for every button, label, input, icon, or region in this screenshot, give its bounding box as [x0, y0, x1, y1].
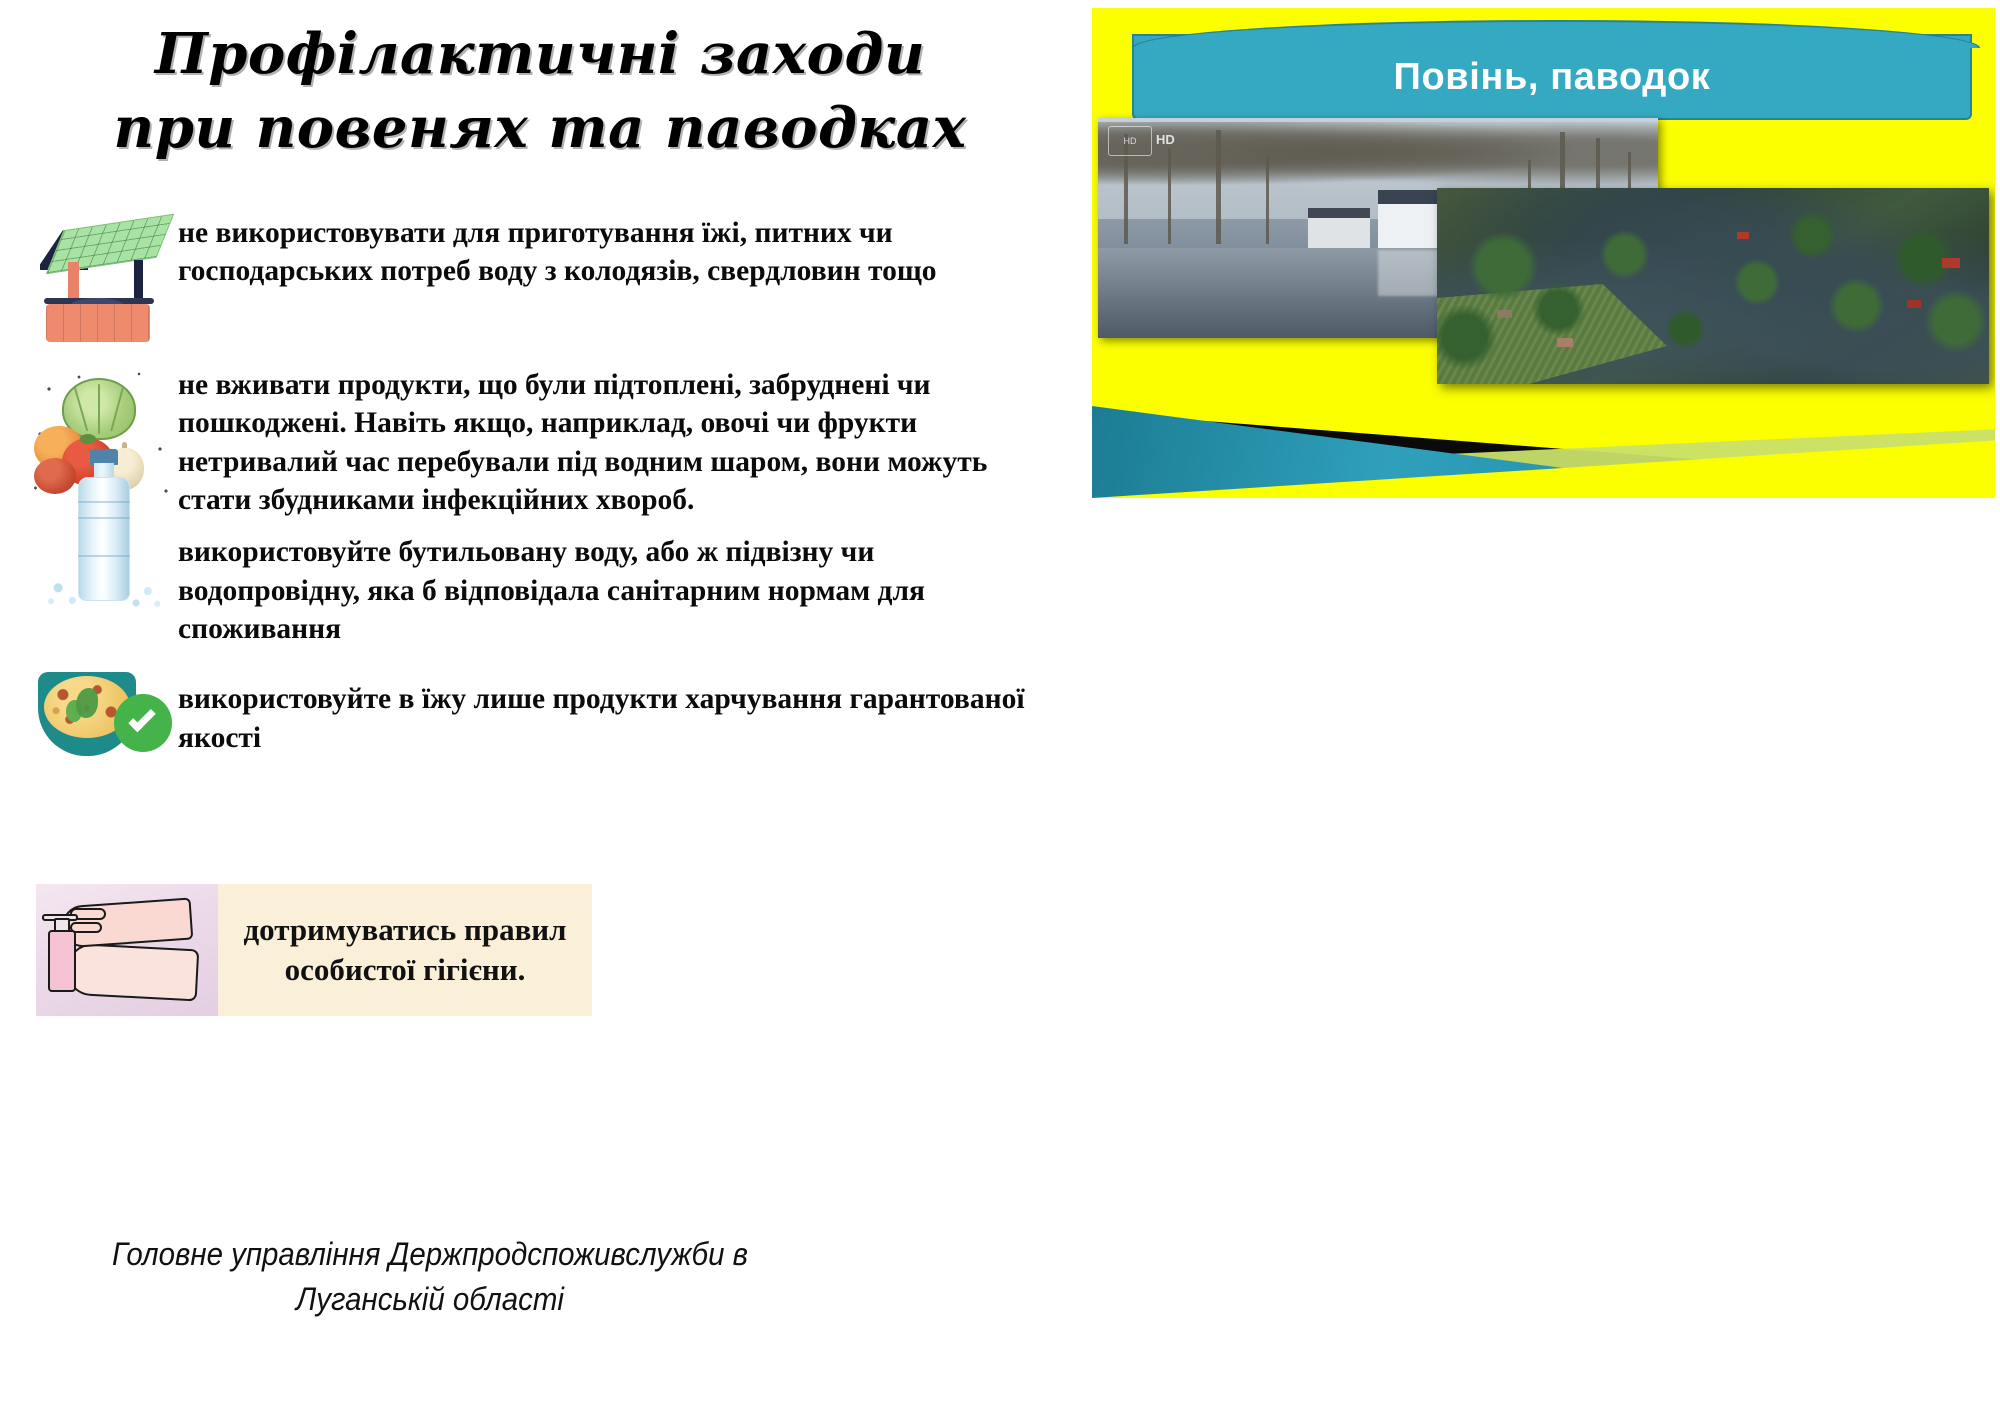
- list-item: використовуйте в їжу лише продукти харчу…: [28, 664, 1058, 769]
- right-column: Повінь, паводок HD HD: [1075, 0, 2000, 1414]
- infographic-page: Профілактичні заходи при повенях та паво…: [0, 0, 2000, 1414]
- hygiene-line-1: дотримуватись правил: [243, 912, 566, 947]
- slide-banner: Повінь, паводок: [1132, 34, 1972, 120]
- slide-banner-title: Повінь, паводок: [1394, 56, 1711, 99]
- well-icon: [28, 210, 178, 338]
- list-item: використовуйте бутильовану воду, або ж п…: [28, 443, 1058, 648]
- list-item-text: не використовувати для приготування їжі,…: [178, 210, 1058, 291]
- hygiene-banner: дотримуватись правил особистої гігієни.: [36, 884, 592, 1016]
- footer-line-1: Головне управління Держпродспоживслужби …: [108, 1232, 752, 1277]
- hand-washing-soap-icon: [36, 884, 218, 1016]
- list-item-text: використовуйте в їжу лише продукти харчу…: [178, 664, 1058, 757]
- prevention-items-list: не використовувати для приготування їжі,…: [28, 210, 1058, 769]
- page-title: Профілактичні заходи при повенях та паво…: [60, 18, 1020, 166]
- aerial-flooded-village-photo: [1437, 188, 1989, 384]
- left-column: Профілактичні заходи при повенях та паво…: [0, 0, 1075, 1414]
- list-item-text: використовуйте бутильовану воду, або ж п…: [178, 443, 1058, 648]
- footer-line-2: Луганській області: [108, 1277, 752, 1322]
- hygiene-line-2: особистої гігієни.: [285, 952, 526, 987]
- footer-organization: Головне управління Держпродспоживслужби …: [108, 1232, 752, 1322]
- hd-badge-icon: HD: [1108, 126, 1152, 156]
- title-line-2: при повенях та паводках: [60, 92, 1020, 166]
- title-line-1: Профілактичні заходи: [60, 18, 1020, 92]
- flood-slide: Повінь, паводок HD HD: [1092, 8, 1995, 498]
- safe-food-bowl-check-icon: [28, 664, 178, 769]
- hygiene-banner-text: дотримуватись правил особистої гігієни.: [218, 884, 592, 1016]
- water-bottle-icon: [28, 443, 178, 613]
- hd-label: HD: [1156, 132, 1175, 147]
- list-item: не використовувати для приготування їжі,…: [28, 210, 1058, 338]
